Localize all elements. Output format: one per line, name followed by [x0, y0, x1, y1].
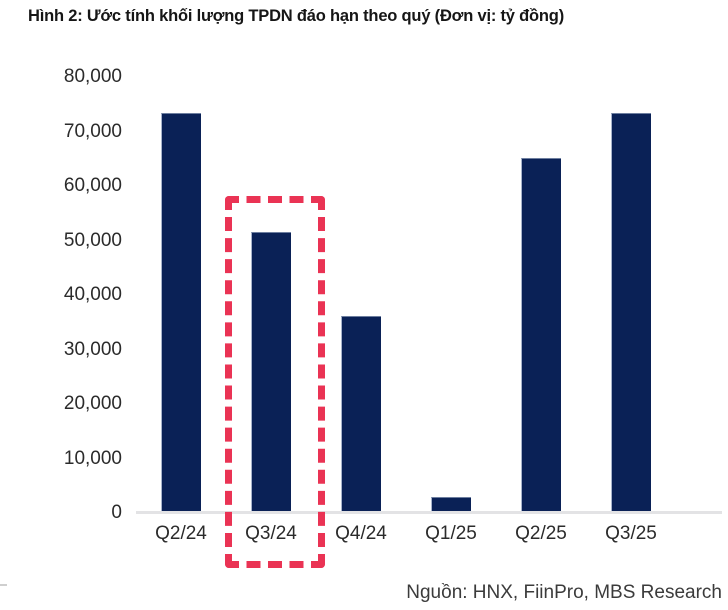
- edge-artifact: [0, 584, 7, 586]
- page-title: Hình 2: Ước tính khối lượng TPDN đáo hạn…: [28, 6, 698, 28]
- y-axis-tick-label: 70,000: [30, 121, 122, 143]
- bar-slot: [136, 77, 226, 513]
- x-axis-tick-label: Q1/25: [406, 523, 496, 545]
- x-axis-tick-label: Q2/25: [496, 523, 586, 545]
- x-axis-tick-label: Q4/24: [316, 523, 406, 545]
- bar[interactable]: [161, 113, 201, 513]
- x-axis-tick-label: Q3/24: [226, 523, 316, 545]
- bar-slot: [226, 77, 316, 513]
- bar[interactable]: [521, 158, 561, 513]
- bar[interactable]: [341, 316, 381, 513]
- y-axis-tick-label: 0: [30, 502, 122, 524]
- source-note: Nguồn: HNX, FiinPro, MBS Research: [406, 582, 722, 604]
- bar-slot: [406, 77, 496, 513]
- bar-slot: [316, 77, 406, 513]
- bar[interactable]: [251, 232, 291, 513]
- y-axis-tick-label: 30,000: [30, 339, 122, 361]
- y-axis-tick-label: 40,000: [30, 284, 122, 306]
- y-axis-tick-label: 60,000: [30, 175, 122, 197]
- bar[interactable]: [611, 113, 651, 513]
- axis-baseline: [136, 511, 722, 514]
- y-axis-tick-label: 50,000: [30, 230, 122, 252]
- x-axis-tick-label: Q2/24: [136, 523, 226, 545]
- bar-slot: [496, 77, 586, 513]
- x-axis-tick-label: Q3/25: [586, 523, 676, 545]
- y-axis-tick-label: 10,000: [30, 448, 122, 470]
- bar-slot: [586, 77, 676, 513]
- chart-plot-area: 80,00070,00060,00050,00040,00030,00020,0…: [136, 77, 722, 513]
- y-axis-tick-label: 80,000: [30, 66, 122, 88]
- y-axis-tick-label: 20,000: [30, 393, 122, 415]
